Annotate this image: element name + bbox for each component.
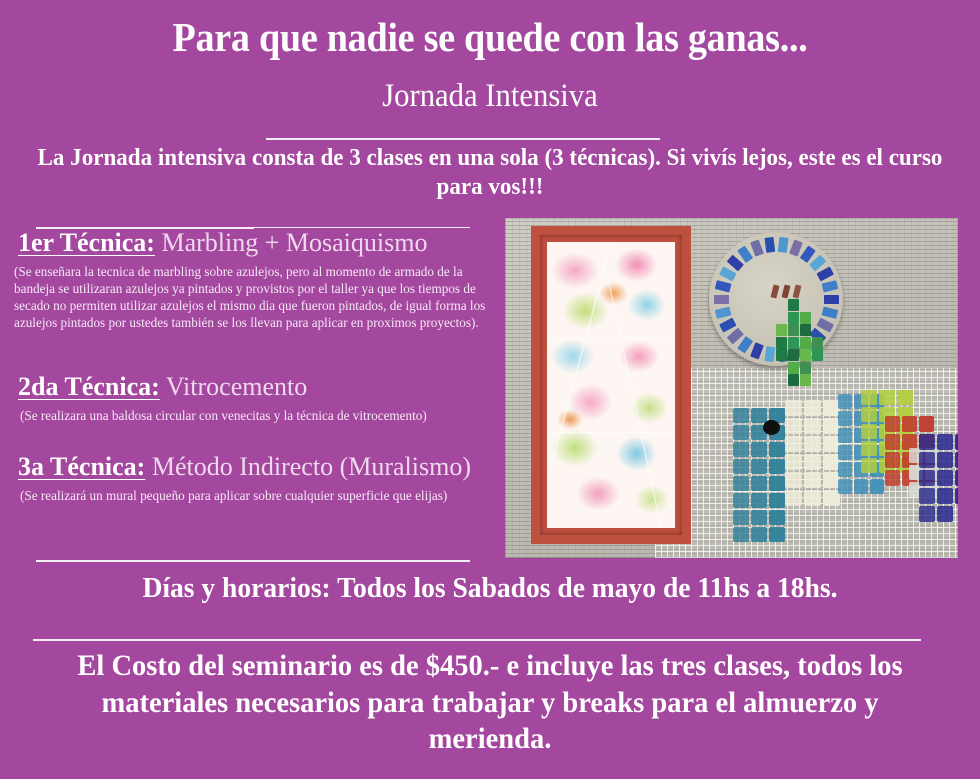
technique-3-label: 3a Técnica: bbox=[18, 452, 145, 481]
mosaic-projects-photo bbox=[505, 218, 958, 558]
schedule-text: Días y horarios: Todos los Sabados de ma… bbox=[34, 572, 946, 605]
technique-2: 2da Técnica: Vitrocemento (Se realizara … bbox=[14, 372, 510, 424]
technique-1-name: Marbling + Mosaiquismo bbox=[161, 228, 427, 257]
technique-2-heading: 2da Técnica: Vitrocemento bbox=[18, 372, 510, 403]
page-subtitle: Jornada Intensiva bbox=[34, 78, 945, 114]
technique-2-label: 2da Técnica: bbox=[18, 372, 160, 401]
photo-border bbox=[505, 218, 958, 558]
technique-3: 3a Técnica: Método Indirecto (Muralismo)… bbox=[14, 452, 510, 504]
technique-1: 1er Técnica: Marbling + Mosaiquismo (Se … bbox=[14, 228, 510, 331]
divider-header bbox=[266, 138, 660, 140]
technique-3-description: (Se realizará un mural pequeño para apli… bbox=[20, 487, 490, 504]
lead-paragraph: La Jornada intensiva consta de 3 clases … bbox=[37, 144, 943, 203]
cost-text: El Costo del seminario es de $450.- e in… bbox=[38, 648, 942, 758]
divider-techniques-bottom bbox=[36, 560, 470, 562]
technique-3-heading: 3a Técnica: Método Indirecto (Muralismo) bbox=[18, 452, 510, 483]
technique-2-description: (Se realizara una baldosa circular con v… bbox=[20, 407, 490, 424]
technique-1-description: (Se enseñara la tecnica de marbling sobr… bbox=[14, 263, 500, 332]
technique-1-heading: 1er Técnica: Marbling + Mosaiquismo bbox=[18, 228, 510, 259]
technique-2-name: Vitrocemento bbox=[166, 372, 307, 401]
divider-schedule bbox=[33, 639, 921, 641]
technique-3-name: Método Indirecto (Muralismo) bbox=[152, 452, 471, 481]
technique-1-label: 1er Técnica: bbox=[18, 228, 155, 257]
page-title: Para que nadie se quede con las ganas... bbox=[34, 16, 945, 59]
poster: Para que nadie se quede con las ganas...… bbox=[0, 0, 980, 779]
